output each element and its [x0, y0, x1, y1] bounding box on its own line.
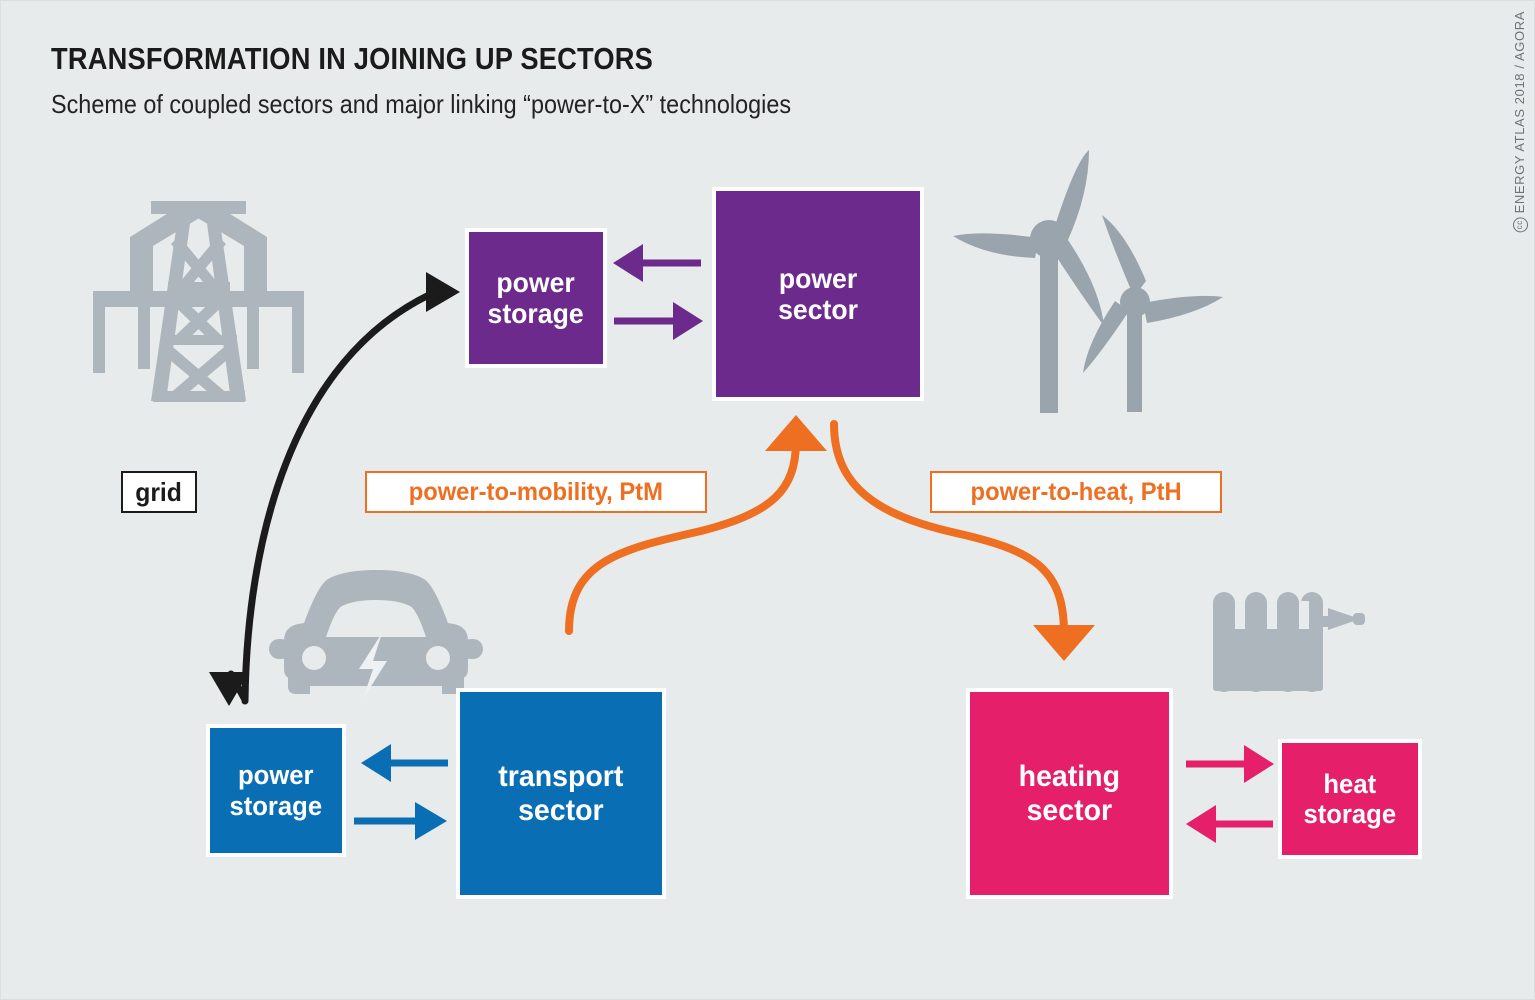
page-subtitle: Scheme of coupled sectors and major link… [51, 89, 791, 120]
tag-label: power-to-mobility, PtM [409, 478, 663, 507]
node-label: heat storage [1304, 769, 1397, 829]
heat-storage-to-heating-sector-arrow [1186, 805, 1273, 843]
radiator-icon [1213, 592, 1365, 692]
node-label: power storage [488, 267, 584, 330]
electric-car-icon [269, 570, 483, 699]
grid-to-transport-storage-arrow [209, 672, 249, 706]
wind-turbines-icon [953, 150, 1223, 413]
node-label: heating sector [1019, 760, 1120, 827]
tag-grid: grid [121, 471, 197, 513]
power-to-heat-arrow [834, 424, 1095, 661]
node-heating-sector[interactable]: heating sector [966, 688, 1173, 899]
tag-label: power-to-heat, PtH [970, 478, 1181, 507]
node-label: transport sector [498, 760, 623, 827]
creative-commons-icon: cc [1513, 217, 1528, 232]
tag-power-to-heat: power-to-heat, PtH [930, 471, 1222, 513]
tag-power-to-mobility: power-to-mobility, PtM [365, 471, 707, 513]
power-storage-to-transport-arrow [354, 802, 447, 840]
electricity-pylon-icon [93, 201, 304, 402]
node-heat-storage[interactable]: heat storage [1278, 739, 1422, 859]
page-title: TRANSFORMATION IN JOINING UP SECTORS [51, 41, 653, 77]
power-sector-to-storage-arrow [613, 244, 701, 282]
node-power-storage-transport[interactable]: power storage [206, 724, 346, 857]
credit-text: ENERGY ATLAS 2018 / AGORA [1512, 11, 1527, 213]
tag-label: grid [136, 477, 183, 508]
power-to-mobility-arrow [569, 415, 827, 631]
transport-sector-to-storage-arrow [361, 744, 448, 782]
heating-sector-to-heat-storage-arrow [1186, 745, 1274, 783]
credit-line: ccENERGY ATLAS 2018 / AGORA [1512, 11, 1528, 232]
node-transport-sector[interactable]: transport sector [456, 688, 666, 899]
power-storage-to-sector-arrow [614, 302, 703, 340]
node-power-sector[interactable]: power sector [712, 187, 924, 401]
node-power-storage-power-sector[interactable]: power storage [465, 228, 607, 368]
node-label: power storage [230, 760, 323, 820]
infographic-canvas: TRANSFORMATION IN JOINING UP SECTORS Sch… [0, 0, 1535, 1000]
node-label: power sector [778, 263, 858, 326]
